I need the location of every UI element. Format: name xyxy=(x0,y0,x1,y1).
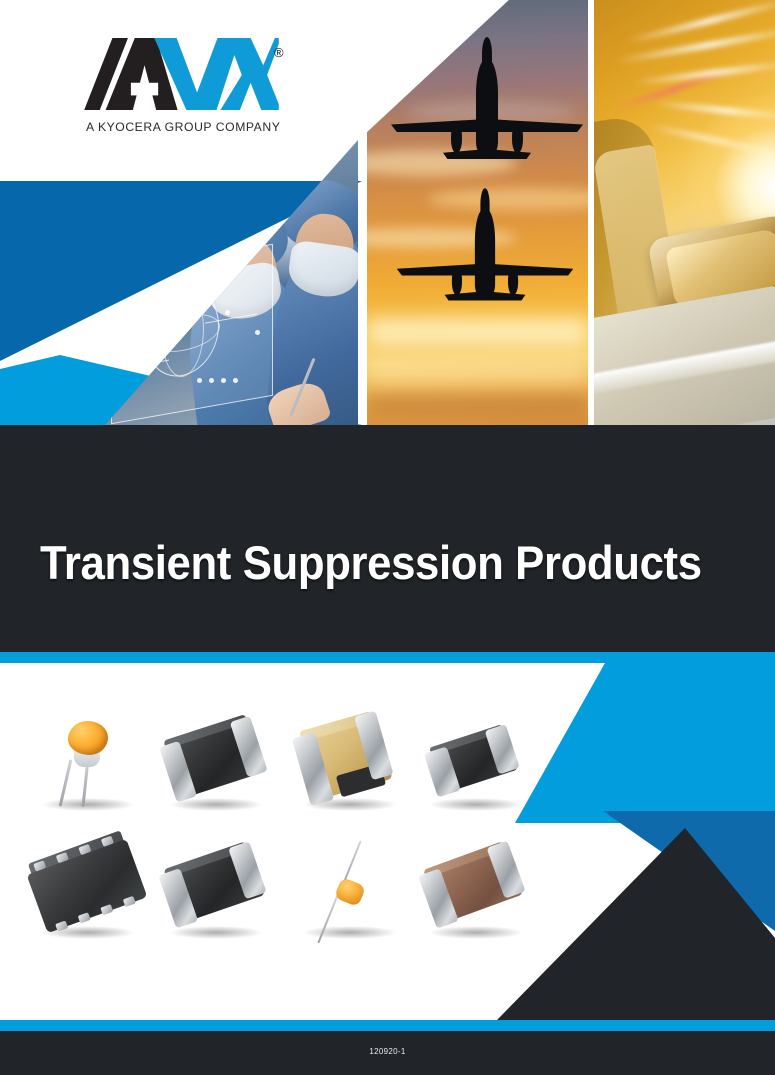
product-black-smd-chip-large xyxy=(156,705,274,823)
product-black-smd-chip-small xyxy=(416,705,534,823)
product-shadow xyxy=(42,798,134,811)
jet-stabilizer-left xyxy=(445,291,485,300)
chip-assembly xyxy=(162,722,266,800)
registered-trademark-icon: ® xyxy=(274,46,284,59)
array-assembly xyxy=(27,839,148,934)
horizon-glow xyxy=(367,356,588,384)
jet-pod-right xyxy=(512,123,523,153)
jet-pod-right xyxy=(508,267,518,295)
hud-node-dot xyxy=(209,378,214,383)
jet-pod-left xyxy=(452,267,462,295)
hud-node-dot xyxy=(233,378,238,383)
page-title: Transient Suppression Products xyxy=(40,539,691,588)
product-axial-leaded-component xyxy=(290,833,408,951)
hud-line xyxy=(119,343,177,354)
brand-tagline: A KYOCERA GROUP COMPANY xyxy=(86,120,280,134)
product-showcase-section xyxy=(0,663,775,1020)
jet-pod-left xyxy=(451,123,462,153)
decorative-light-blue-triangle xyxy=(515,663,775,823)
product-shadow xyxy=(170,926,262,939)
cover-page: ® A KYOCERA GROUP COMPANY Transient Supp… xyxy=(0,0,775,1075)
chip-assembly xyxy=(423,849,524,925)
product-shadow xyxy=(430,926,522,939)
hud-node-dot xyxy=(221,378,226,383)
jet-wing-right xyxy=(485,264,573,276)
product-shadow xyxy=(304,926,396,939)
hud-node-dot xyxy=(183,276,188,281)
hud-node-dot xyxy=(197,378,202,383)
jet-stabilizer-right xyxy=(487,149,531,159)
product-eight-terminal-chip-array xyxy=(28,833,146,951)
document-revision-code: 120920-1 xyxy=(0,1047,775,1056)
product-image-grid xyxy=(28,705,498,955)
header-hero: ® A KYOCERA GROUP COMPANY xyxy=(0,0,775,425)
cloud xyxy=(427,188,588,210)
product-radial-leaded-disc-varistor xyxy=(28,705,146,823)
hero-image-aviation xyxy=(367,0,588,425)
horizon-glow xyxy=(367,318,588,346)
jet-fuselage xyxy=(475,208,495,296)
product-shadow xyxy=(430,798,522,811)
automotive-photo xyxy=(594,0,775,425)
hud-node-dot xyxy=(225,310,230,315)
product-black-smd-chip-medium xyxy=(156,833,274,951)
jet-wing-left xyxy=(397,264,485,276)
hud-line xyxy=(119,352,159,360)
hero-image-automotive xyxy=(594,0,775,425)
chip-assembly xyxy=(428,731,518,794)
horizon-band xyxy=(367,398,588,412)
light-streak xyxy=(634,60,775,85)
varistor-disc-body xyxy=(68,721,108,755)
light-streak xyxy=(615,26,775,65)
product-brown-ceramic-chip xyxy=(416,833,534,951)
avx-logo: ® A KYOCERA GROUP COMPANY xyxy=(84,38,294,143)
avx-logomark xyxy=(84,38,279,110)
chip-assembly xyxy=(163,849,266,924)
chip-assembly xyxy=(297,721,392,801)
jet-stabilizer-right xyxy=(485,291,525,300)
blue-rule-lower xyxy=(0,1020,775,1031)
jet-fuselage xyxy=(476,59,498,155)
product-tan-ceramic-chip-capacitor xyxy=(290,705,408,823)
page-footer: 120920-1 xyxy=(0,1031,775,1075)
axial-body xyxy=(334,877,366,907)
hud-node-dot xyxy=(255,330,260,335)
blue-rule-upper xyxy=(0,652,775,663)
